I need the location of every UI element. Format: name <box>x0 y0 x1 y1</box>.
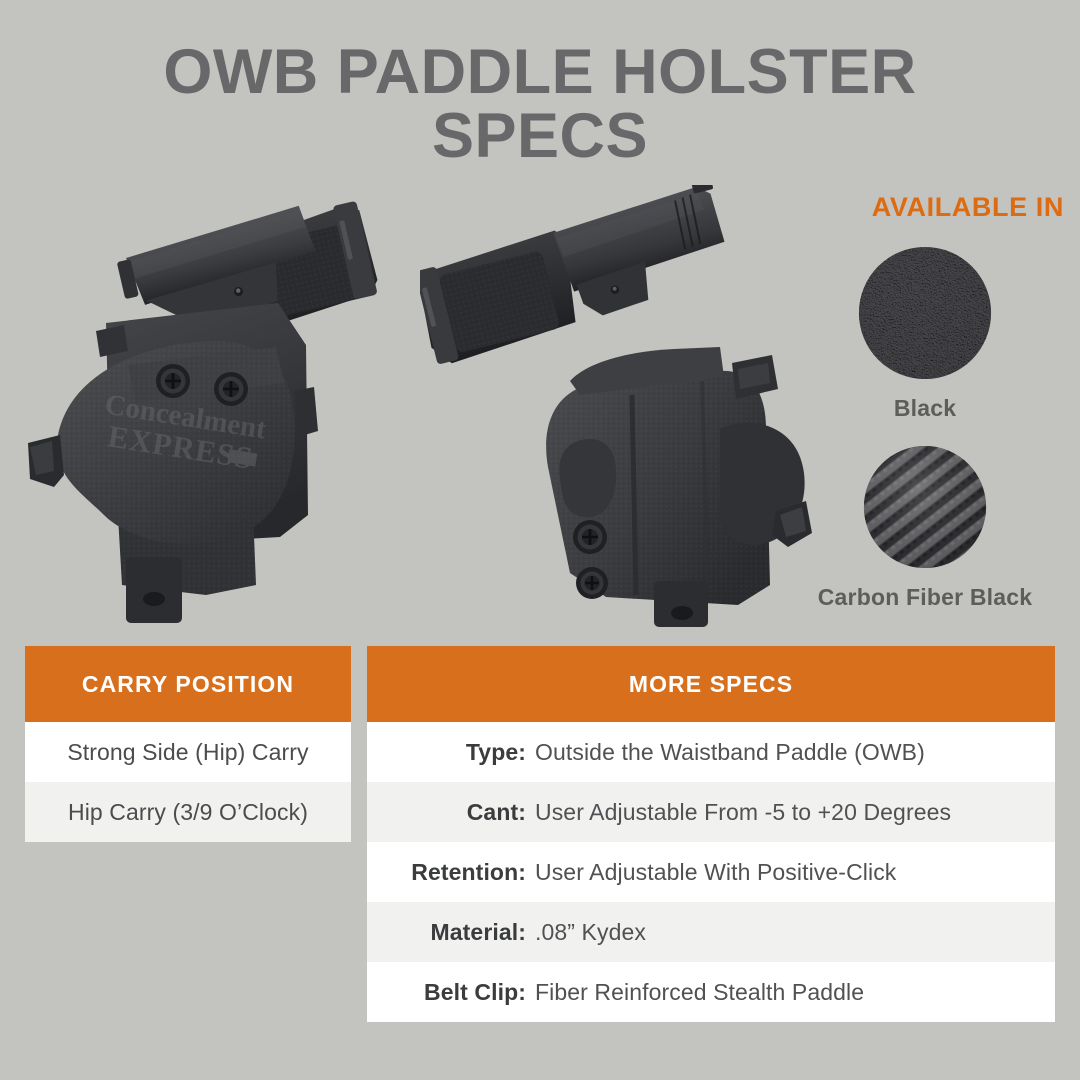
carry-position-value: Hip Carry (3/9 O’Clock) <box>68 799 308 826</box>
available-in-heading: AVAILABLE IN <box>780 192 1070 223</box>
black-kydex-swatch <box>857 245 993 381</box>
product-image-area: Concealment EXPRESS <box>0 185 820 630</box>
carry-position-table: CARRY POSITION Strong Side (Hip) Carry H… <box>25 646 351 842</box>
spec-value: User Adjustable From -5 to +20 Degrees <box>535 799 951 826</box>
table-row: Hip Carry (3/9 O’Clock) <box>25 782 351 842</box>
swatch-black-label: Black <box>780 395 1070 422</box>
table-row: Belt Clip: Fiber Reinforced Stealth Padd… <box>367 962 1055 1022</box>
page-title: OWB PADDLE HOLSTER SPECS <box>0 40 1080 169</box>
holster-back-image <box>420 185 820 635</box>
swatch-carbon-block: Carbon Fiber Black <box>780 444 1070 611</box>
spec-label: Material: <box>367 919 535 946</box>
table-row: Cant: User Adjustable From -5 to +20 Deg… <box>367 782 1055 842</box>
swatch-carbon-label: Carbon Fiber Black <box>780 584 1070 611</box>
retention-screw <box>214 372 248 406</box>
carbon-fiber-swatch <box>862 444 988 570</box>
carry-position-value: Strong Side (Hip) Carry <box>67 739 308 766</box>
retention-screw <box>156 364 190 398</box>
more-specs-table: MORE SPECS Type: Outside the Waistband P… <box>367 646 1055 1022</box>
more-specs-header: MORE SPECS <box>367 646 1055 722</box>
table-row: Type: Outside the Waistband Paddle (OWB) <box>367 722 1055 782</box>
retention-screw <box>576 567 608 599</box>
spec-label: Retention: <box>367 859 535 886</box>
page-title-line-2: SPECS <box>0 104 1080 168</box>
spec-label: Type: <box>367 739 535 766</box>
carry-position-header: CARRY POSITION <box>25 646 351 722</box>
swatch-black-block: Black <box>780 245 1070 422</box>
table-row: Retention: User Adjustable With Positive… <box>367 842 1055 902</box>
retention-screw <box>573 520 607 554</box>
available-in-panel: AVAILABLE IN <box>780 192 1070 621</box>
spec-value: User Adjustable With Positive-Click <box>535 859 896 886</box>
table-row: Strong Side (Hip) Carry <box>25 722 351 782</box>
table-row: Material: .08” Kydex <box>367 902 1055 962</box>
spec-value: Fiber Reinforced Stealth Paddle <box>535 979 864 1006</box>
spec-label: Cant: <box>367 799 535 826</box>
holster-front-image: Concealment EXPRESS <box>18 185 418 635</box>
spec-value: .08” Kydex <box>535 919 646 946</box>
spec-label: Belt Clip: <box>367 979 535 1006</box>
page-title-line-1: OWB PADDLE HOLSTER <box>0 40 1080 104</box>
spec-value: Outside the Waistband Paddle (OWB) <box>535 739 925 766</box>
